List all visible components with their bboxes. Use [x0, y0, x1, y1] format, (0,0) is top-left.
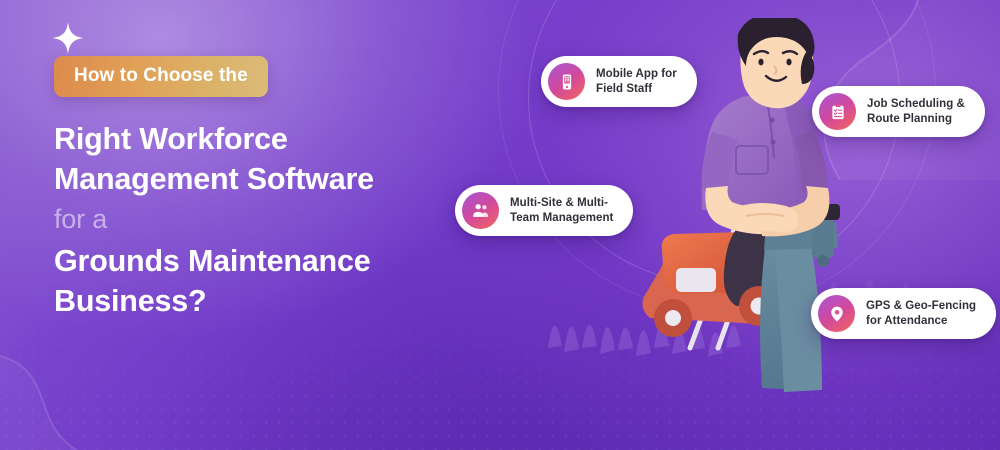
- feature-pill-label: GPS & Geo-Fencing for Attendance: [866, 299, 976, 328]
- page-title: Right Workforce Management Software for …: [54, 119, 484, 321]
- hero-copy: How to Choose the Right Workforce Manage…: [54, 56, 484, 321]
- map-pin-icon: [818, 295, 855, 332]
- clipboard-list-icon: [819, 93, 856, 130]
- headline-line-2: Management Software: [54, 159, 484, 199]
- headline-line-4: Grounds Maintenance: [54, 241, 484, 281]
- headline-line-3: for a: [54, 199, 484, 239]
- eyebrow-badge: How to Choose the: [54, 56, 268, 97]
- feature-pill-gps-geofencing[interactable]: GPS & Geo-Fencing for Attendance: [811, 288, 996, 339]
- headline-line-5: Business?: [54, 281, 484, 321]
- feature-pill-multi-site[interactable]: Multi-Site & Multi- Team Management: [455, 185, 633, 236]
- headline-line-1: Right Workforce: [54, 119, 484, 159]
- feature-pill-label: Multi-Site & Multi- Team Management: [510, 196, 613, 225]
- feature-pill-mobile-app[interactable]: Mobile App for Field Staff: [541, 56, 697, 107]
- feature-pill-label: Mobile App for Field Staff: [596, 67, 677, 96]
- feature-pill-label: Job Scheduling & Route Planning: [867, 97, 965, 126]
- sparkle-star-icon: [52, 22, 84, 54]
- feature-pill-job-scheduling[interactable]: Job Scheduling & Route Planning: [812, 86, 985, 137]
- hero-banner: How to Choose the Right Workforce Manage…: [0, 0, 1000, 450]
- mobile-phone-icon: [548, 63, 585, 100]
- team-people-icon: [462, 192, 499, 229]
